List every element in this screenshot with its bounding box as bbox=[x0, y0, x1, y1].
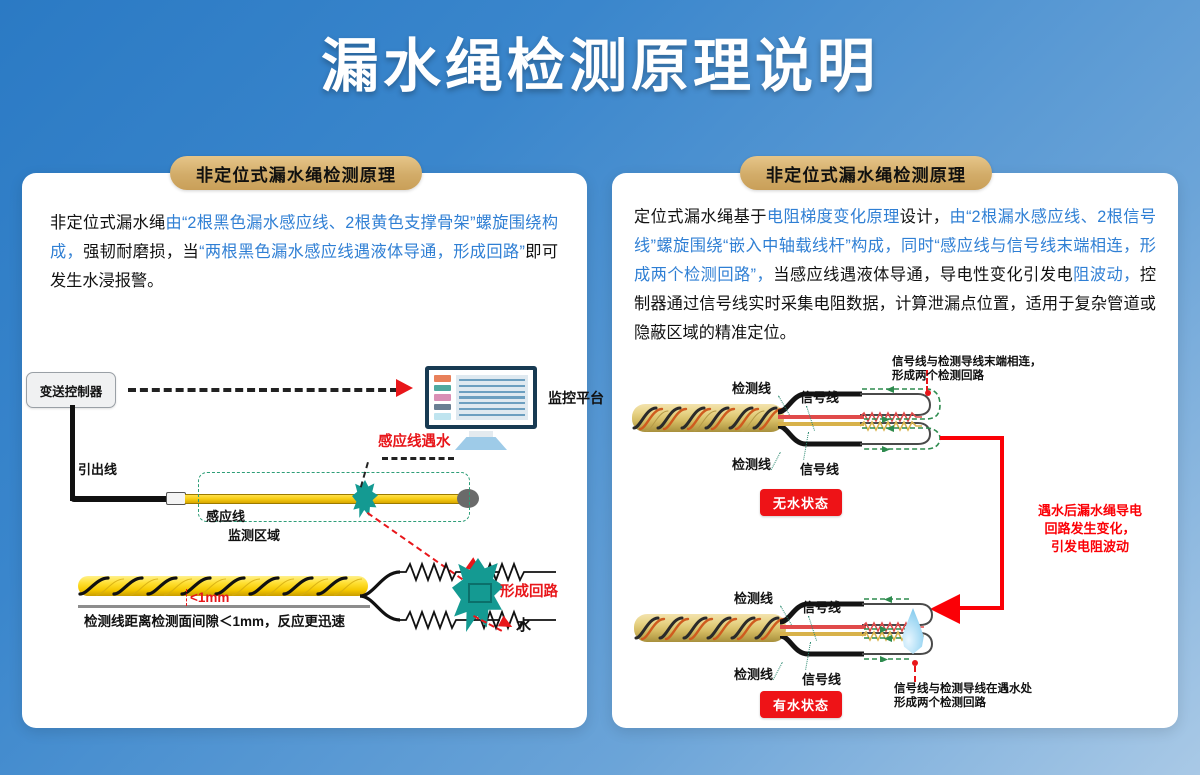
monitor-row bbox=[459, 391, 525, 393]
monitor-zone-label: 监测区域 bbox=[228, 528, 280, 543]
gap-label: <1mm bbox=[190, 590, 229, 605]
rope-illustration-right-top bbox=[632, 398, 784, 438]
para-right-seg5: 当感应线遇液体导通，导电性变化引发电 bbox=[773, 266, 1073, 284]
detection-loop-bottom bbox=[862, 596, 988, 662]
status-badge-with-water: 有水状态 bbox=[760, 691, 842, 718]
panel-left: 非定位式漏水绳检测原理 非定位式漏水绳由“2根黑色漏水感应线、2根黄色支撑骨架”… bbox=[22, 173, 587, 728]
monitor-chip bbox=[434, 375, 451, 382]
callout-top-line2: 形成两个检测回路 bbox=[892, 369, 984, 383]
lead-wire-vertical bbox=[70, 405, 75, 501]
red-note-line3: 引发电阻波动 bbox=[1010, 538, 1170, 556]
controller-box: 变送控制器 bbox=[26, 372, 116, 408]
red-bracket-vertical bbox=[1000, 436, 1004, 608]
paragraph-right: 定位式漏水绳基于电阻梯度变化原理设计，由“2根漏水感应线、2根信号线”螺旋围绕“… bbox=[634, 203, 1156, 348]
detect-line-label-top-upper: 检测线 bbox=[732, 381, 771, 396]
para-left-seg4: “两根黑色漏水感应线遇液体导通，形成回路” bbox=[199, 243, 525, 261]
leak-callout-label: 感应线遇水 bbox=[378, 435, 451, 450]
rope-base-line bbox=[78, 605, 370, 608]
callout-dash-bottom bbox=[914, 666, 916, 682]
para-left-seg1: 非定位式漏水绳 bbox=[50, 214, 166, 232]
water-callout-label: 水 bbox=[516, 618, 531, 633]
monitor-platform-label: 监控平台 bbox=[548, 391, 604, 406]
status-badge-no-water: 无水状态 bbox=[760, 489, 842, 516]
signal-line-label-bottom-upper: 信号线 bbox=[802, 600, 841, 615]
loop-square-icon bbox=[468, 583, 492, 603]
callout-top-line1: 信号线与检测导线末端相连， bbox=[892, 355, 1042, 369]
connector-icon bbox=[166, 492, 186, 505]
monitor-neck bbox=[469, 431, 493, 438]
leak-callout-dash bbox=[382, 457, 454, 460]
red-note: 遇水后漏水绳导电 回路发生变化， 引发电阻波动 bbox=[1010, 502, 1170, 556]
monitor-row bbox=[459, 408, 525, 410]
monitor-row bbox=[459, 414, 525, 416]
detect-line-label-bottom-upper: 检测线 bbox=[734, 591, 773, 606]
signal-dashed-arrow bbox=[128, 388, 398, 392]
monitor-chip bbox=[434, 404, 451, 411]
rope-illustration-right-bottom bbox=[634, 608, 786, 648]
paragraph-left: 非定位式漏水绳由“2根黑色漏水感应线、2根黄色支撑骨架”螺旋围绕构成，强韧耐磨损… bbox=[50, 209, 558, 296]
detect-line-label-top-lower: 检测线 bbox=[732, 457, 771, 472]
monitor-content bbox=[456, 375, 528, 420]
tab-left-title[interactable]: 非定位式漏水绳检测原理 bbox=[170, 156, 422, 190]
lead-wire-label: 引出线 bbox=[78, 462, 117, 477]
monitor-row bbox=[459, 396, 525, 398]
callout-bottom-line1: 信号线与检测导线在遇水处 bbox=[894, 682, 1032, 696]
monitor-row bbox=[459, 402, 525, 404]
red-note-line2: 回路发生变化， bbox=[1010, 520, 1170, 538]
signal-line-label-top-upper: 信号线 bbox=[800, 390, 839, 405]
tab-right-title[interactable]: 非定位式漏水绳检测原理 bbox=[740, 156, 992, 190]
sense-line-label: 感应线 bbox=[206, 509, 245, 524]
detection-loop-top bbox=[860, 386, 986, 452]
lead-wire-horizontal bbox=[70, 496, 168, 502]
monitor-chip bbox=[434, 413, 451, 420]
para-right-seg1: 定位式漏水绳基于 bbox=[634, 208, 767, 226]
callout-bottom-line2: 形成两个检测回路 bbox=[894, 696, 986, 710]
para-right-seg2: 电阻梯度变化原理 bbox=[767, 208, 900, 226]
loop-callout-label: 形成回路 bbox=[500, 585, 558, 600]
page-title: 漏水绳检测原理说明 bbox=[0, 34, 1200, 101]
monitor-chip bbox=[434, 394, 451, 401]
arrow-head-icon bbox=[396, 379, 413, 397]
monitor-row bbox=[459, 385, 525, 387]
signal-line-label-bottom-lower: 信号线 bbox=[802, 672, 841, 687]
monitor-row bbox=[459, 379, 525, 381]
para-right-seg6: 阻波动， bbox=[1073, 266, 1140, 284]
monitor-chip bbox=[434, 385, 451, 392]
red-note-line1: 遇水后漏水绳导电 bbox=[1010, 502, 1170, 520]
red-bracket-top bbox=[940, 436, 1004, 440]
para-right-seg3: 设计， bbox=[900, 208, 950, 226]
detect-line-label-bottom-lower: 检测线 bbox=[734, 667, 773, 682]
rope-caption: 检测线距离检测面间隙＜1mm，反应更迅速 bbox=[84, 610, 345, 630]
gap-tick-icon bbox=[186, 589, 187, 606]
monitor-sidebar bbox=[434, 375, 451, 420]
signal-line-label-top-lower: 信号线 bbox=[800, 462, 839, 477]
para-left-seg3: 强韧耐磨损，当 bbox=[83, 243, 199, 261]
monitor-screen-icon bbox=[425, 366, 537, 429]
